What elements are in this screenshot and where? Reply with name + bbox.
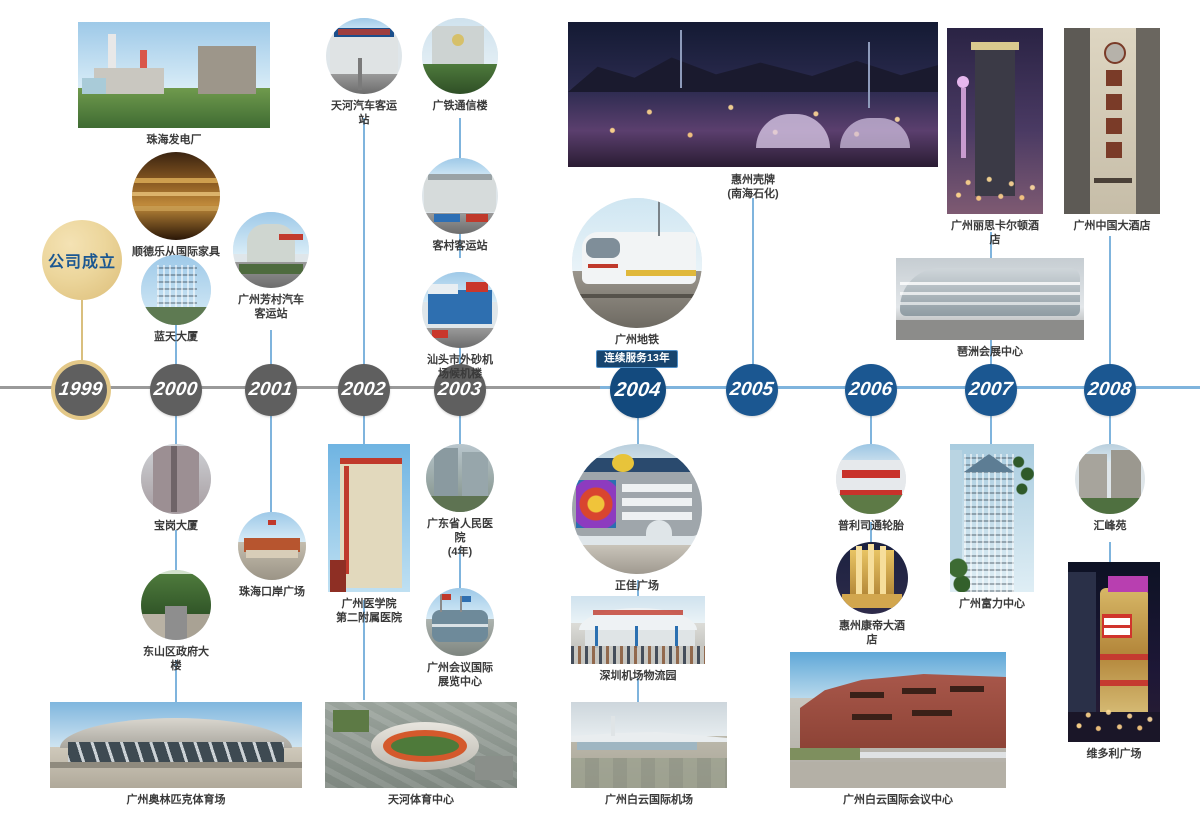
- project-dongshan-gov-building[interactable]: 东山区政府大楼: [141, 570, 211, 673]
- project-photo: [141, 570, 211, 640]
- project-photo: [836, 542, 908, 614]
- project-photo: [896, 258, 1084, 340]
- project-china-hotel-guangzhou[interactable]: 广州中国大酒店: [1064, 28, 1160, 233]
- year-node-2007[interactable]: 2007: [965, 364, 1017, 416]
- project-caption: 广州芳村汽车客运站: [233, 293, 309, 321]
- project-tianhe-sports-center[interactable]: 天河体育中心: [325, 702, 517, 807]
- year-node-2000[interactable]: 2000: [150, 364, 202, 416]
- project-photo: [326, 18, 402, 94]
- project-kecun-bus-station[interactable]: 客村客运站: [422, 158, 498, 253]
- project-guangzhou-metro[interactable]: 广州地铁 连续服务13年: [572, 198, 702, 368]
- connector-2003-up-a: [459, 118, 461, 158]
- project-gz-medical-2nd-hospital[interactable]: 广州医学院 第二附属医院: [328, 444, 410, 625]
- project-caption: 普利司通轮胎: [836, 519, 906, 533]
- project-photo: [141, 255, 211, 325]
- year-label: 2002: [341, 379, 388, 401]
- year-label: 1999: [58, 379, 105, 401]
- project-photo: [422, 272, 498, 348]
- year-label: 2003: [437, 379, 484, 401]
- year-label: 2000: [153, 379, 200, 401]
- project-photo: [950, 444, 1034, 592]
- year-label: 2006: [848, 379, 895, 401]
- project-pazhou-convention-center[interactable]: 琶洲会展中心: [896, 258, 1084, 359]
- year-node-2008[interactable]: 2008: [1084, 364, 1136, 416]
- project-caption: 汇峰苑: [1075, 519, 1145, 533]
- project-fangcun-bus-station[interactable]: 广州芳村汽车客运站: [233, 212, 309, 321]
- project-caption: 蓝天大厦: [141, 330, 211, 344]
- project-grandview-mall[interactable]: 正佳广场: [572, 444, 702, 593]
- project-shenzhen-airport-logistics[interactable]: 深圳机场物流园: [571, 596, 705, 683]
- project-baiyun-intl-conf-center[interactable]: 广州白云国际会议中心: [790, 652, 1006, 807]
- project-photo: [568, 22, 938, 167]
- project-photo: [947, 28, 1043, 214]
- project-photo: [1075, 444, 1145, 514]
- metro-service-badge: 连续服务13年: [596, 350, 678, 368]
- project-guangzhou-olympic-stadium[interactable]: 广州奥林匹克体育场: [50, 702, 302, 807]
- year-label: 2008: [1087, 379, 1134, 401]
- connector-founding: [81, 300, 83, 370]
- project-photo: [1064, 28, 1160, 214]
- project-shantou-waisha-terminal[interactable]: 汕头市外砂机场候机楼: [422, 272, 498, 381]
- project-caption: 客村客运站: [422, 239, 498, 253]
- project-caption: 广州白云国际机场: [571, 793, 727, 807]
- project-caption: 东山区政府大楼: [141, 645, 211, 673]
- project-gz-ritz-carlton-hotel[interactable]: 广州丽思卡尔顿酒店: [947, 28, 1043, 247]
- project-huizhou-kangdi-hotel[interactable]: 惠州康帝大酒店: [836, 542, 908, 647]
- project-lantian-building[interactable]: 蓝天大厦: [141, 255, 211, 344]
- project-caption: 珠海口岸广场: [238, 585, 306, 599]
- project-guangdong-peoples-hospital[interactable]: 广东省人民医院 (4年): [426, 444, 494, 559]
- project-caption: 广州奥林匹克体育场: [50, 793, 302, 807]
- project-caption: 广州富力中心: [950, 597, 1034, 611]
- project-photo: [790, 652, 1006, 788]
- year-node-1999[interactable]: 1999: [55, 364, 107, 416]
- project-caption: 天河体育中心: [325, 793, 517, 807]
- project-photo: [422, 158, 498, 234]
- project-gz-intl-convention-center[interactable]: 广州会议国际展览中心: [426, 588, 494, 689]
- project-caption: 汕头市外砂机场候机楼: [422, 353, 498, 381]
- project-photo: [836, 444, 906, 514]
- timeline-infographic: 公司成立 1999 2000 2001 2002 2003 2004 2005 …: [0, 0, 1200, 814]
- project-caption: 琶洲会展中心: [896, 345, 1084, 359]
- project-caption: 珠海发电厂: [78, 133, 270, 147]
- project-caption: 深圳机场物流园: [571, 669, 705, 683]
- project-huizhou-shell[interactable]: 惠州壳牌 (南海石化): [568, 22, 938, 201]
- year-label: 2005: [729, 379, 776, 401]
- year-node-2006[interactable]: 2006: [845, 364, 897, 416]
- year-label: 2007: [968, 379, 1015, 401]
- project-baogang-building[interactable]: 宝岗大厦: [141, 444, 211, 533]
- connector-2005-up: [752, 198, 754, 372]
- connector-baogang-dongshan: [175, 530, 177, 570]
- project-caption: 维多利广场: [1068, 747, 1160, 761]
- project-caption: 广东省人民医院 (4年): [426, 517, 494, 559]
- connector-2002-up: [363, 118, 365, 372]
- project-photo: [1068, 562, 1160, 742]
- project-bridgestone-tire[interactable]: 普利司通轮胎: [836, 444, 906, 533]
- project-gz-rf-center[interactable]: 广州富力中心: [950, 444, 1034, 611]
- project-photo: [571, 702, 727, 788]
- project-photo: [426, 444, 494, 512]
- project-caption: 广州会议国际展览中心: [426, 661, 494, 689]
- project-photo: [426, 588, 494, 656]
- project-photo: [325, 702, 517, 788]
- project-caption: 广州白云国际会议中心: [790, 793, 1006, 807]
- project-zhuhai-power-plant[interactable]: 珠海发电厂: [78, 22, 270, 147]
- project-photo: [141, 444, 211, 514]
- project-photo: [572, 198, 702, 328]
- project-photo: [78, 22, 270, 128]
- project-caption: 正佳广场: [572, 579, 702, 593]
- year-node-2004[interactable]: 2004: [610, 362, 666, 418]
- connector-2008-down-b: [1109, 542, 1111, 562]
- project-huifeng-yuan[interactable]: 汇峰苑: [1075, 444, 1145, 533]
- project-caption: 惠州康帝大酒店: [836, 619, 908, 647]
- project-victory-plaza[interactable]: 维多利广场: [1068, 562, 1160, 761]
- founding-label: 公司成立: [48, 248, 116, 272]
- project-caption: 广州中国大酒店: [1064, 219, 1160, 233]
- project-photo: [233, 212, 309, 288]
- project-photo: [50, 702, 302, 788]
- project-tianhe-bus-station[interactable]: 天河汽车客运站: [326, 18, 402, 127]
- project-baiyun-intl-airport[interactable]: 广州白云国际机场: [571, 702, 727, 807]
- project-photo: [572, 444, 702, 574]
- year-label: 2001: [248, 379, 295, 401]
- project-photo: [571, 596, 705, 664]
- project-caption: 广州医学院 第二附属医院: [328, 597, 410, 625]
- project-photo: [238, 512, 306, 580]
- project-caption: 广州地铁: [572, 333, 702, 347]
- year-node-2005[interactable]: 2005: [726, 364, 778, 416]
- project-zhuhai-port-plaza[interactable]: 珠海口岸广场: [238, 512, 306, 599]
- project-photo: [422, 18, 498, 94]
- connector-2001-down: [270, 402, 272, 512]
- project-photo: [132, 152, 220, 240]
- year-node-2002[interactable]: 2002: [338, 364, 390, 416]
- year-node-2001[interactable]: 2001: [245, 364, 297, 416]
- project-guangtie-telecom-building[interactable]: 广铁通信楼: [422, 18, 498, 113]
- project-caption: 广州丽思卡尔顿酒店: [947, 219, 1043, 247]
- project-photo: [328, 444, 410, 592]
- project-caption: 宝岗大厦: [141, 519, 211, 533]
- founding-bubble[interactable]: 公司成立: [42, 220, 122, 300]
- connector-2008-up: [1109, 236, 1111, 372]
- project-caption: 广铁通信楼: [422, 99, 498, 113]
- project-caption: 天河汽车客运站: [326, 99, 402, 127]
- year-label: 2004: [614, 379, 663, 402]
- project-caption: 惠州壳牌 (南海石化): [568, 173, 938, 201]
